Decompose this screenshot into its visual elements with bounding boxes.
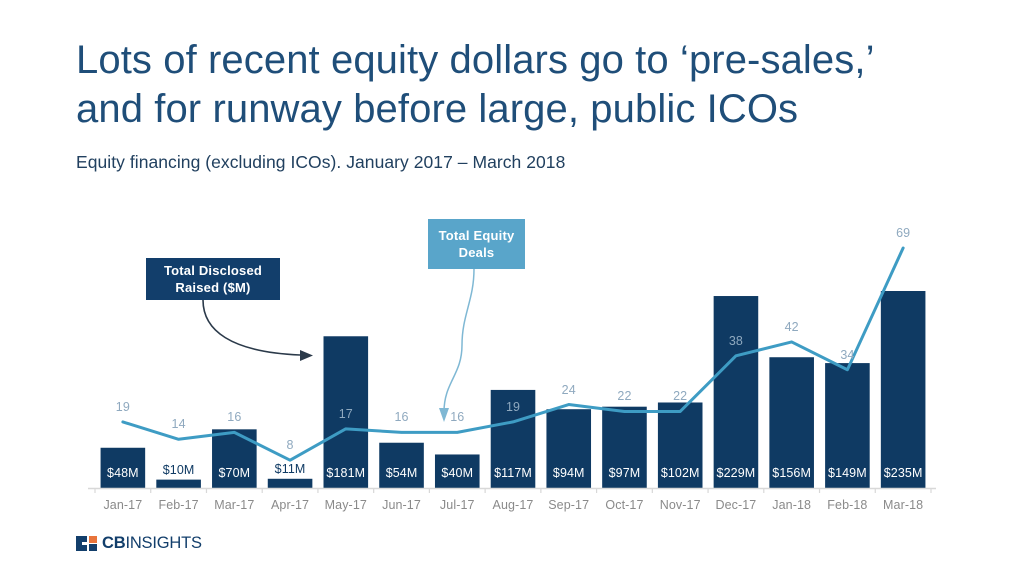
bar-label-may-17: $181M: [316, 466, 377, 480]
x-label-mar-18: Mar-18: [875, 498, 931, 512]
x-label-sep-17: Sep-17: [541, 498, 597, 512]
deal-label-jun-17: 16: [380, 410, 424, 424]
deal-label-mar-18: 69: [881, 226, 925, 240]
bar-feb-17: [156, 480, 201, 488]
callout-total-equity-deals: Total Equity Deals: [428, 219, 525, 269]
deal-label-feb-17: 14: [157, 417, 201, 431]
deal-label-jan-18: 42: [770, 320, 814, 334]
x-label-apr-17: Apr-17: [262, 498, 318, 512]
bar-label-feb-17: $10M: [148, 463, 209, 477]
logo-brand-bold: CB: [102, 534, 125, 553]
x-label-jan-17: Jan-17: [95, 498, 151, 512]
bar-label-nov-17: $102M: [650, 466, 711, 480]
deal-label-may-17: 17: [324, 407, 368, 421]
cb-insights-mark-icon: [76, 536, 97, 551]
x-label-dec-17: Dec-17: [708, 498, 764, 512]
x-label-may-17: May-17: [318, 498, 374, 512]
bar-apr-17: [268, 479, 313, 488]
bar-label-feb-18: $149M: [817, 466, 878, 480]
bar-mar-18: [881, 291, 926, 488]
deal-label-mar-17: 16: [212, 410, 256, 424]
x-label-jun-17: Jun-17: [374, 498, 430, 512]
bar-label-mar-18: $235M: [873, 466, 934, 480]
deal-label-apr-17: 8: [268, 438, 312, 452]
callout-raised-line1: Total Disclosed: [164, 262, 262, 279]
bar-label-dec-17: $229M: [706, 466, 767, 480]
x-label-oct-17: Oct-17: [597, 498, 653, 512]
deal-label-nov-17: 22: [658, 389, 702, 403]
deal-label-jul-17: 16: [435, 410, 479, 424]
deal-label-jan-17: 19: [101, 400, 145, 414]
bar-label-mar-17: $70M: [204, 466, 265, 480]
slide-canvas: Lots of recent equity dollars go to ‘pre…: [0, 0, 1024, 576]
bar-label-sep-17: $94M: [538, 466, 599, 480]
bar-label-jul-17: $40M: [427, 466, 488, 480]
cb-insights-logo: CB INSIGHTS: [76, 533, 202, 553]
bar-label-aug-17: $117M: [483, 466, 544, 480]
annotation-arrow-deals: [439, 269, 474, 422]
deal-label-aug-17: 19: [491, 400, 535, 414]
x-label-jul-17: Jul-17: [429, 498, 485, 512]
x-label-feb-17: Feb-17: [151, 498, 207, 512]
deal-label-dec-17: 38: [714, 334, 758, 348]
bar-label-jan-18: $156M: [761, 466, 822, 480]
x-label-nov-17: Nov-17: [652, 498, 708, 512]
bar-label-apr-17: $11M: [260, 462, 321, 476]
bar-label-oct-17: $97M: [594, 466, 655, 480]
x-label-aug-17: Aug-17: [485, 498, 541, 512]
deal-label-feb-18: 34: [825, 348, 869, 362]
x-label-jan-18: Jan-18: [764, 498, 820, 512]
x-label-mar-17: Mar-17: [206, 498, 262, 512]
deal-label-oct-17: 22: [602, 389, 646, 403]
callout-deals-line2: Deals: [459, 244, 495, 261]
deal-label-sep-17: 24: [547, 383, 591, 397]
annotation-arrow-raised: [203, 300, 313, 361]
x-label-feb-18: Feb-18: [820, 498, 876, 512]
callout-total-disclosed-raised: Total Disclosed Raised ($M): [146, 258, 280, 300]
bar-label-jan-17: $48M: [93, 466, 154, 480]
callout-deals-line1: Total Equity: [439, 227, 515, 244]
logo-brand-light: INSIGHTS: [125, 534, 201, 553]
bar-label-jun-17: $54M: [371, 466, 432, 480]
bar-dec-17: [714, 296, 759, 488]
callout-raised-line2: Raised ($M): [175, 279, 250, 296]
